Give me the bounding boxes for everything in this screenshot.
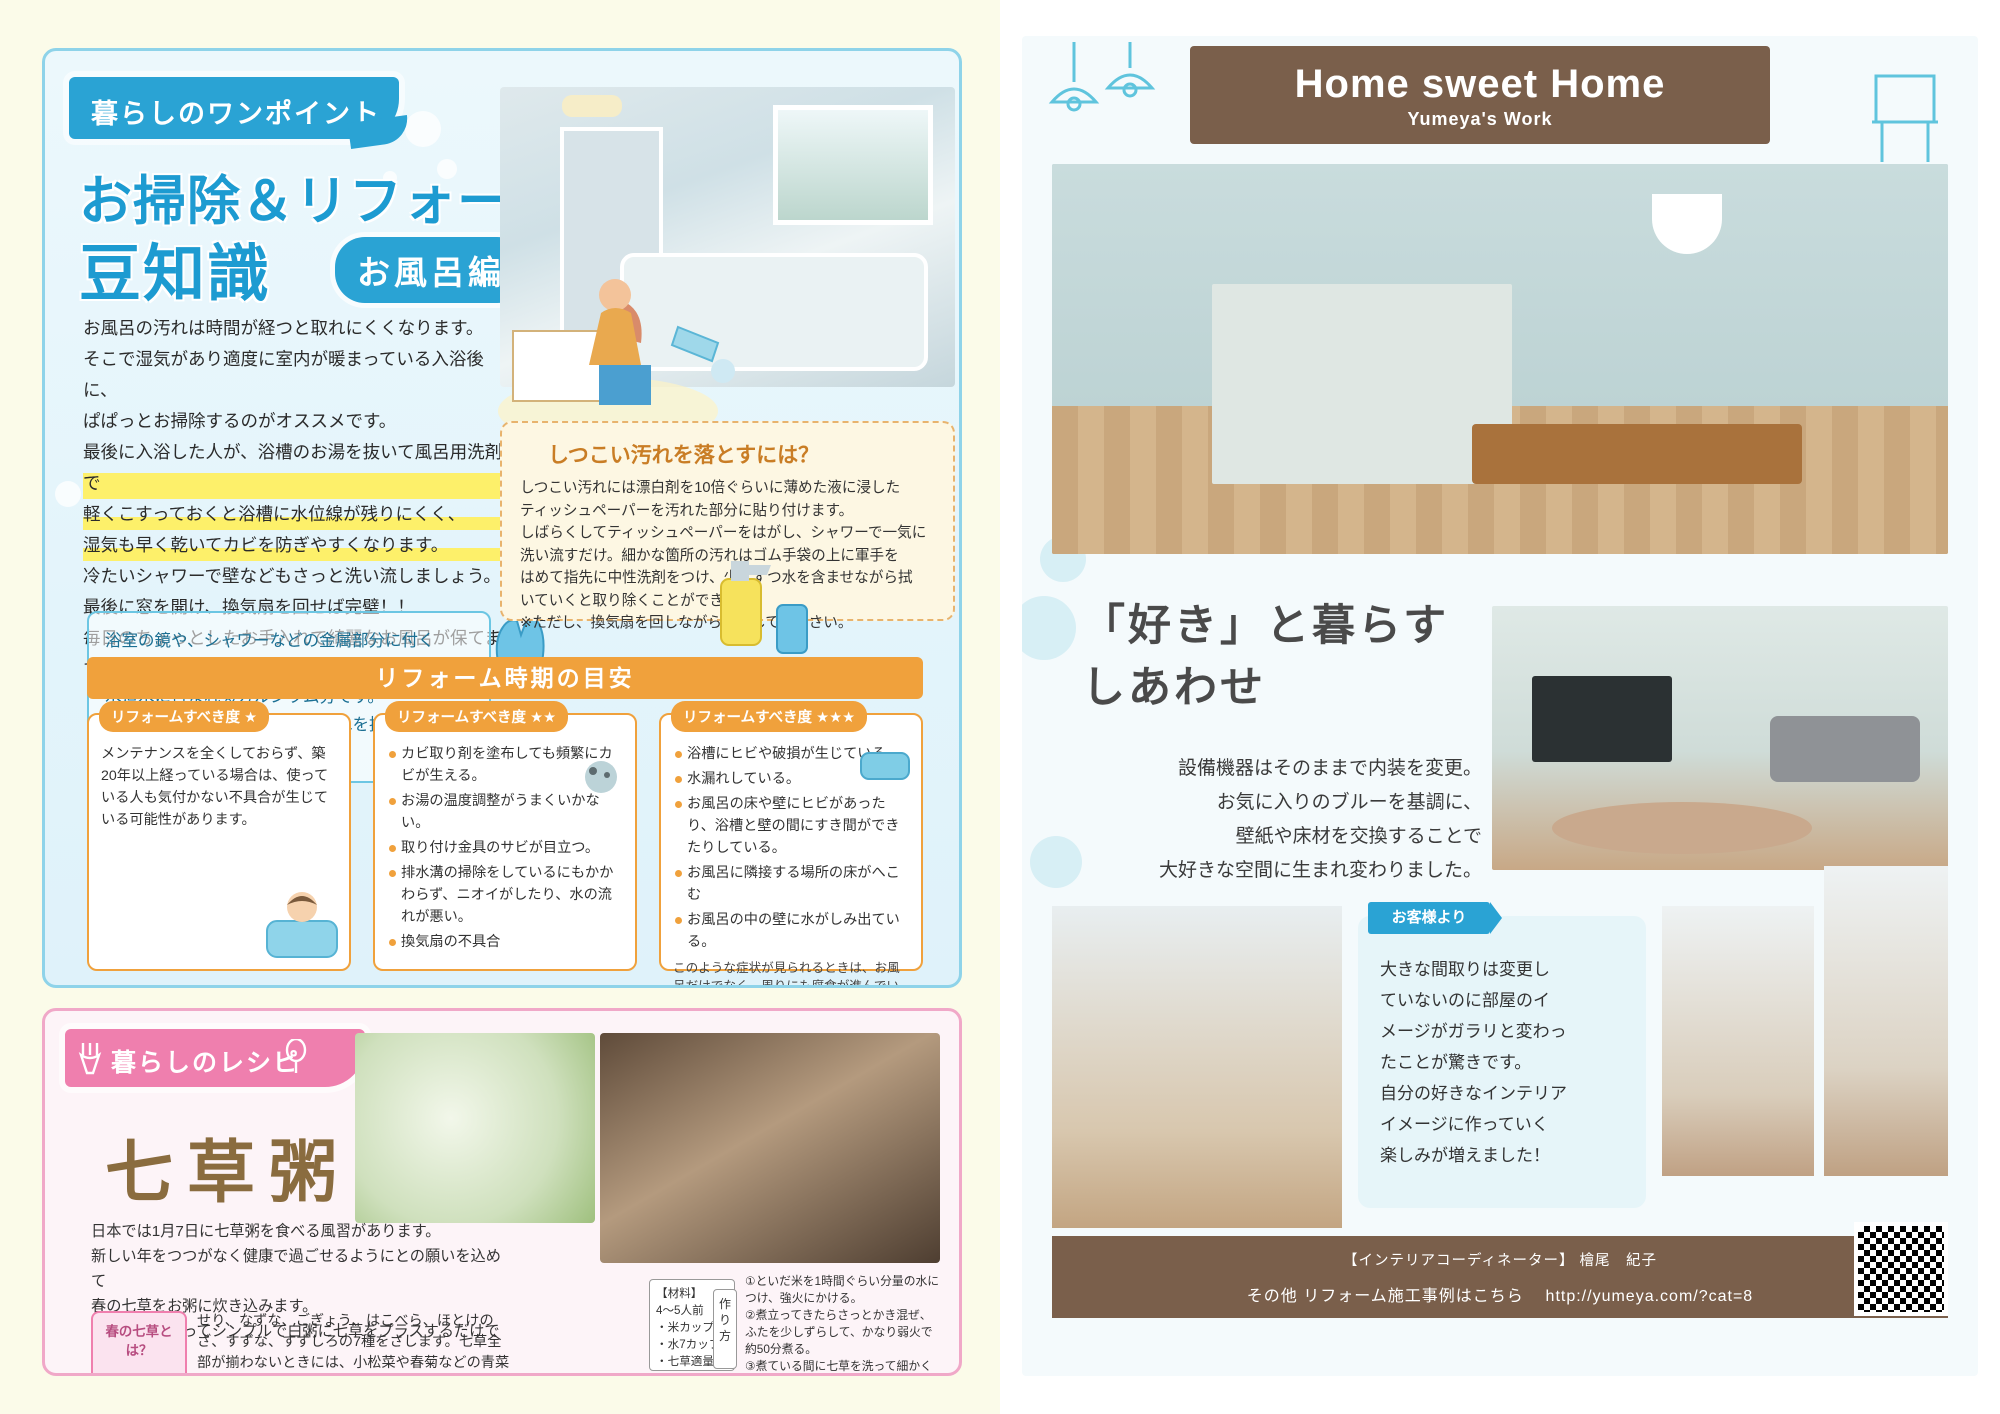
reform-card-1-text: メンテナンスを全くしておらず、築20年以上経っている場合は、使っている人も気付か… — [101, 743, 339, 831]
intro-line-highlight: 軽くこすっておくと浴槽に水位線が残りにくく、 — [83, 499, 503, 530]
qr-code[interactable] — [1854, 1222, 1948, 1316]
voice-line: 大きな間取りは変更し — [1380, 954, 1630, 985]
voice-line: ていないのに部屋のイ — [1380, 985, 1630, 1016]
bubble-decor-icon — [405, 111, 441, 147]
hanging-lamp-icon — [1044, 42, 1184, 154]
intro-line: お風呂の汚れは時間が経つと取れにくくなります。 — [83, 313, 503, 344]
right-page: Home sweet Home Yumeya's Work 「好き」と暮らす し… — [1000, 0, 2000, 1414]
section-title-line-1: 「好き」と暮らす — [1082, 596, 1449, 658]
reform-card-1-title: リフォームすべき度 ★ — [99, 701, 269, 732]
reform-section-header: リフォーム時期の目安 — [87, 657, 923, 699]
living-room-photo — [1492, 606, 1948, 870]
toilet-photo — [1662, 906, 1814, 1176]
nanakusa-qa: 春の七草とは？ せり、なずな、ごぎょう、はこべら、ほとけのざ、すずな、すずしろの… — [91, 1311, 511, 1376]
reform-card-3-title: リフォームすべき度 ★★★ — [671, 701, 867, 732]
reform-item: 排水溝の掃除をしているにもかかわらず、ニオイがしたり、水の流れが悪い。 — [387, 862, 625, 928]
rug — [1552, 802, 1812, 854]
section-body-line: 設備機器はそのままで内装を変更。 — [1082, 752, 1482, 786]
main-interior-photo — [1052, 164, 1948, 554]
footer-coordinator: 【インテリアコーディネーター】 檜尾 紀子 — [1052, 1236, 1948, 1270]
recipe-intro-line: 日本では1月7日に七草粥を食べる風習があります。 — [91, 1219, 511, 1244]
stain-line: ティッシュペーパーを汚れた部分に貼り付けます。 — [520, 500, 935, 523]
recipe-step: ①といだ米を1時間ぐらい分量の水につけ、強火にかける。 — [745, 1273, 941, 1307]
intro-line-highlight: 湿気も早く乾いてカビを防ぎやすくなります。 — [83, 530, 503, 561]
bath-person-icon — [263, 879, 341, 961]
dining-table — [1472, 424, 1802, 484]
voice-line: 楽しみが増えました！ — [1380, 1140, 1630, 1171]
mold-icon — [573, 749, 629, 805]
reform-card-3-note: このような症状が見られるときは、お風呂だけでなく、周りにも腐食が進んでいる可能性… — [673, 959, 911, 988]
recipe-step: ②煮立ってきたらさっとかき混ぜ、ふたを少しずらして、かなり弱火で約50分煮る。 — [745, 1307, 941, 1358]
magazine-spread: 暮らしのワンポイント お掃除＆リフォーム 豆知識 お風呂編 — [0, 0, 2000, 1414]
bubble-decor-icon — [1030, 836, 1082, 888]
chair-icon — [1850, 62, 1960, 172]
section-body-line: お気に入りのブルーを基調に、 — [1082, 786, 1482, 820]
bathtub-icon — [857, 743, 913, 787]
recipe-panel: 暮らしのレシピ 七草粥 日本では1月7日に七草粥を食べる風習があります。 新しい… — [42, 1008, 962, 1376]
left-page: 暮らしのワンポイント お掃除＆リフォーム 豆知識 お風呂編 — [0, 0, 1000, 1414]
recipe-title: 七草粥 — [105, 1117, 351, 1216]
nanakusa-qa-text: せり、なずな、ごぎょう、はこべら、ほとけのざ、すずな、すずしろの7種をさします。… — [187, 1311, 511, 1376]
footer-link-row: その他 リフォーム施工事例はこちら http://yumeya.com/?cat… — [1052, 1270, 1948, 1306]
intro-line-highlight: 最後に入浴した人が、浴槽のお湯を抜いて風呂用洗剤で — [83, 437, 503, 499]
bathroom-window — [773, 105, 933, 225]
reform-card-3: リフォームすべき度 ★★★ 浴槽にヒビや破損が生じている。 水漏れしている。 お… — [659, 713, 923, 971]
recipe-steps: ①といだ米を1時間ぐらい分量の水につけ、強火にかける。 ②煮立ってきたらさっとか… — [745, 1273, 941, 1376]
reform-card-1: リフォームすべき度 ★ メンテナンスを全くしておらず、築20年以上経っている場合… — [87, 713, 351, 971]
bath-tips-panel: 暮らしのワンポイント お掃除＆リフォーム 豆知識 お風呂編 — [42, 48, 962, 988]
reform-item: お風呂に隣接する場所の床がへこむ — [673, 862, 911, 906]
right-page-content: Home sweet Home Yumeya's Work 「好き」と暮らす し… — [1022, 36, 1978, 1376]
headline-secondary: 豆知識 — [79, 223, 271, 313]
header-title: Home sweet Home — [1190, 46, 1770, 107]
reform-card-2-title: リフォームすべき度 ★★ — [385, 701, 568, 732]
intro-line: そこで湿気があり適度に室内が暖まっている入浴後に、 — [83, 344, 503, 406]
spoon-icon — [281, 1039, 311, 1075]
intro-line: ぱぱっとお掃除するのがオススメです。 — [83, 406, 503, 437]
recipe-ribbon: 暮らしのレシピ — [65, 1029, 365, 1087]
porridge-pot-photo — [600, 1033, 940, 1263]
section-title: 「好き」と暮らす しあわせ — [1082, 596, 1449, 720]
section-body-line: 大好きな空間に生まれ変わりました。 — [1082, 854, 1482, 888]
left-page-content: 暮らしのワンポイント お掃除＆リフォーム 豆知識 お風呂編 — [32, 26, 974, 1388]
footer-link-url[interactable]: http://yumeya.com/?cat=8 — [1546, 1288, 1754, 1305]
spray-bottle-icon — [705, 539, 815, 659]
washroom-photo — [1824, 866, 1948, 1176]
tips-ribbon-label: 暮らしのワンポイント — [69, 77, 399, 131]
hallway-photo — [1052, 906, 1342, 1228]
section-title-line-2: しあわせ — [1082, 658, 1449, 720]
page-footer: 【インテリアコーディネーター】 檜尾 紀子 その他 リフォーム施工事例はこちら … — [1052, 1236, 1948, 1318]
scale-tip-line: 浴室の鏡や、シャワーなどの金属部分に付く — [105, 627, 473, 655]
howto-label: 作り方 — [713, 1289, 737, 1369]
voice-line: たことが驚きです。 — [1380, 1047, 1630, 1078]
kitchen-counter — [1212, 284, 1512, 484]
voice-line: イメージに作っていく — [1380, 1109, 1630, 1140]
fork-icon — [77, 1041, 103, 1075]
home-sweet-home-header: Home sweet Home Yumeya's Work — [1190, 46, 1770, 144]
nanakusa-salad-photo — [355, 1033, 595, 1223]
television — [1532, 676, 1672, 762]
nanakusa-qa-tag: 春の七草とは？ — [91, 1311, 187, 1376]
recipe-step: ③煮ている間に七草を洗って細かく刻む。（青臭さが気になる場合は、熱湯でさっとゆで… — [745, 1358, 941, 1376]
stain-line: しつこい汚れには漂白剤を10倍ぐらいに薄めた液に浸した — [520, 477, 935, 500]
footer-link-label: その他 リフォーム施工事例はこちら — [1247, 1288, 1524, 1305]
bubble-decor-icon — [1022, 596, 1076, 660]
sofa — [1770, 716, 1920, 782]
customer-voice-text: 大きな間取りは変更し ていないのに部屋のイ メージがガラリと変わっ たことが驚き… — [1380, 954, 1630, 1171]
reform-item: 換気扇の不具合 — [387, 931, 625, 953]
header-subtitle: Yumeya's Work — [1190, 109, 1770, 130]
bubble-decor-icon — [55, 481, 81, 507]
recipe-intro-line: 新しい年をつつがなく健康で過ごせるようにとの願いを込めて — [91, 1244, 511, 1294]
voice-line: 自分の好きなインテリア — [1380, 1078, 1630, 1109]
reform-item: お風呂の床や壁にヒビがあったり、浴槽と壁の間にすき間ができたりしている。 — [673, 793, 911, 859]
tips-ribbon: 暮らしのワンポイント — [69, 77, 399, 139]
section-body-line: 壁紙や床材を交換することで — [1082, 820, 1482, 854]
section-body: 設備機器はそのままで内装を変更。 お気に入りのブルーを基調に、 壁紙や床材を交換… — [1082, 752, 1482, 888]
reform-card-2: リフォームすべき度 ★★ カビ取り剤を塗布しても頻繁にカビが生える。 お湯の温度… — [373, 713, 637, 971]
reform-item: お風呂の中の壁に水がしみ出ている。 — [673, 909, 911, 953]
recipe-ribbon-label: 暮らしのレシピ — [65, 1029, 365, 1079]
light-icon — [562, 95, 622, 117]
intro-line: 冷たいシャワーで壁などもさっと洗い流しましょう。 — [83, 561, 503, 592]
voice-line: メージがガラリと変わっ — [1380, 1016, 1630, 1047]
customer-voice-tag: お客様より — [1368, 902, 1490, 934]
reform-item: 取り付け金具のサビが目立つ。 — [387, 837, 625, 859]
stubborn-stain-title: しつこい汚れを落とすには？ — [548, 439, 935, 469]
